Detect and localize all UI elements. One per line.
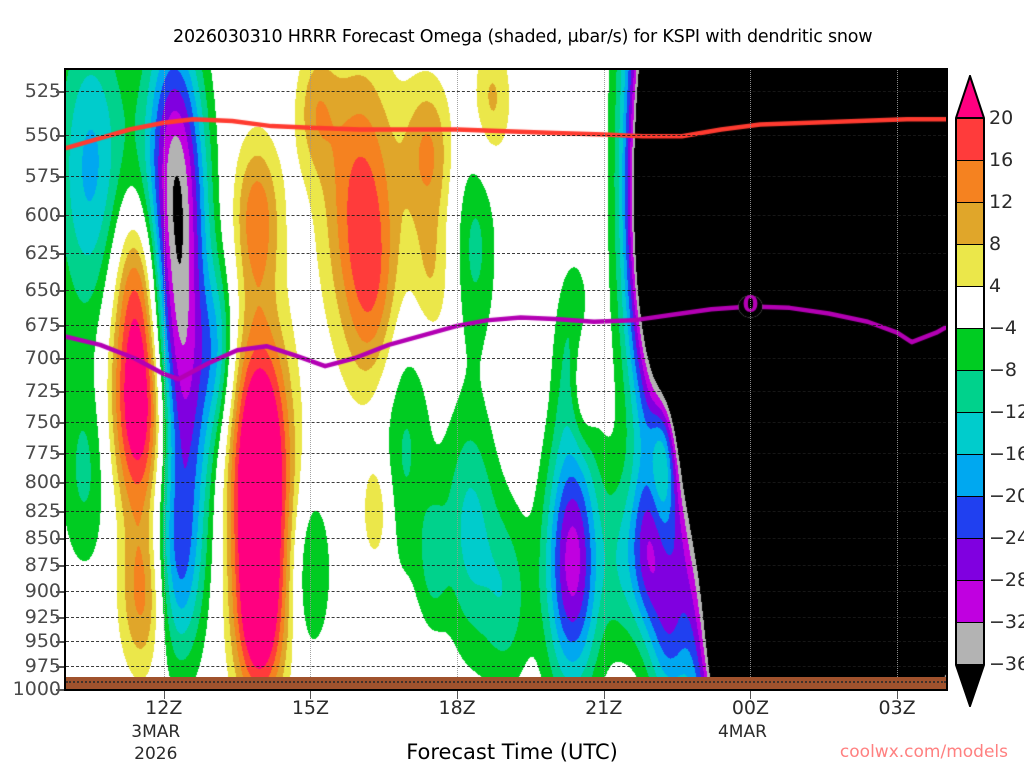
y-tick-label-725: 725: [0, 380, 61, 402]
y-tick-label-700: 700: [0, 347, 61, 369]
y-tick-label-550: 550: [0, 124, 61, 146]
y-tick-600: [56, 215, 64, 217]
colorbar-tick-label-−8: −8: [989, 359, 1017, 381]
y-tick-700: [56, 358, 64, 360]
hgridline-925: [66, 617, 946, 618]
y-tick-875: [56, 565, 64, 567]
hgridline-750: [66, 422, 946, 423]
colorbar-tick-label-−24: −24: [989, 527, 1024, 549]
y-tick-label-650: 650: [0, 279, 61, 301]
colorbar: 20161284−4−8−12−16−20−24−28−32−36: [955, 75, 985, 689]
y-tick-label-625: 625: [0, 242, 61, 264]
y-tick-label-950: 950: [0, 630, 61, 652]
y-tick-575: [56, 176, 64, 178]
colorbar-tick-label-4: 4: [989, 275, 1001, 297]
y-tick-975: [56, 666, 64, 668]
colorbar-tick-label-−36: −36: [989, 653, 1024, 675]
y-tick-850: [56, 538, 64, 540]
hgridline-825: [66, 511, 946, 512]
vgridline-12: [164, 70, 165, 689]
colorbar-tick-label-−32: −32: [989, 611, 1024, 633]
terrain-dots: [66, 681, 946, 683]
y-tick-label-525: 525: [0, 80, 61, 102]
colorbar-tick-label-16: 16: [989, 149, 1013, 171]
colorbar-over-arrow: [955, 75, 985, 118]
y-tick-label-825: 825: [0, 500, 61, 522]
y-tick-label-900: 900: [0, 580, 61, 602]
credit-watermark: coolwx.com/models: [840, 742, 1008, 762]
colorbar-tick-label-20: 20: [989, 107, 1013, 129]
hgridline-525: [66, 91, 946, 92]
y-tick-800: [56, 482, 64, 484]
colorbar-band-5: [955, 328, 985, 370]
colorbar-band-6: [955, 370, 985, 412]
chart-page: 2026030310 HRRR Forecast Omega (shaded, …: [0, 0, 1024, 768]
hgridline-675: [66, 325, 946, 326]
x-tick-label-03Z: 03Z: [879, 697, 916, 719]
colorbar-tick-label-−4: −4: [989, 317, 1017, 339]
hgridline-625: [66, 253, 946, 254]
colorbar-band-2: [955, 202, 985, 244]
omega-shading: [66, 70, 946, 689]
y-tick-750: [56, 422, 64, 424]
colorbar-band-7: [955, 412, 985, 454]
colorbar-tick-label-−20: −20: [989, 485, 1024, 507]
hgridline-975: [66, 666, 946, 667]
hgridline-850: [66, 538, 946, 539]
y-tick-label-925: 925: [0, 606, 61, 628]
hgridline-950: [66, 641, 946, 642]
y-tick-label-1000: 1000: [0, 678, 61, 700]
y-tick-550: [56, 135, 64, 137]
chart-title-line1: 2026030310 HRRR Forecast Omega (shaded, …: [173, 27, 872, 47]
y-tick-label-575: 575: [0, 165, 61, 187]
x-tick-sublabel-00Z-0: 4MAR: [718, 722, 767, 742]
y-tick-label-600: 600: [0, 204, 61, 226]
x-tick-label-00Z: 00Z: [732, 697, 769, 719]
terrain-bar: [66, 677, 946, 689]
vgridline-24: [750, 70, 751, 689]
colorbar-tick-label-−16: −16: [989, 443, 1024, 465]
hgridline-900: [66, 591, 946, 592]
y-tick-775: [56, 453, 64, 455]
y-tick-950: [56, 641, 64, 643]
colorbar-tick-label-12: 12: [989, 191, 1013, 213]
y-tick-900: [56, 591, 64, 593]
y-tick-925: [56, 617, 64, 619]
y-tick-label-775: 775: [0, 442, 61, 464]
colorbar-band-11: [955, 580, 985, 622]
hgridline-875: [66, 565, 946, 566]
colorbar-tick-label-−28: −28: [989, 569, 1024, 591]
y-tick-650: [56, 290, 64, 292]
colorbar-band-4: [955, 286, 985, 328]
y-tick-label-850: 850: [0, 527, 61, 549]
x-tick-sublabel-12Z-0: 3MAR: [131, 722, 180, 742]
y-tick-725: [56, 391, 64, 393]
vgridline-18: [457, 70, 458, 689]
hgridline-1000: [66, 689, 946, 690]
colorbar-tick-label-−12: −12: [989, 401, 1024, 423]
colorbar-band-12: [955, 622, 985, 664]
vgridline-21: [604, 70, 605, 689]
y-tick-625: [56, 253, 64, 255]
y-tick-label-675: 675: [0, 314, 61, 336]
hgridline-775: [66, 453, 946, 454]
y-tick-label-975: 975: [0, 655, 61, 677]
hgridline-550: [66, 135, 946, 136]
vgridline-27: [897, 70, 898, 689]
colorbar-tick-label-8: 8: [989, 233, 1001, 255]
colorbar-band-0: [955, 118, 985, 160]
y-tick-label-750: 750: [0, 411, 61, 433]
hgridline-700: [66, 358, 946, 359]
colorbar-band-1: [955, 160, 985, 202]
colorbar-band-3: [955, 244, 985, 286]
x-tick-label-12Z: 12Z: [145, 697, 182, 719]
hgridline-725: [66, 391, 946, 392]
y-tick-label-875: 875: [0, 554, 61, 576]
vgridline-15: [310, 70, 311, 689]
plot-area: [64, 68, 948, 691]
omega-contour-canvas: [66, 70, 946, 689]
hgridline-575: [66, 176, 946, 177]
y-tick-1000: [56, 689, 64, 691]
hgridline-600: [66, 215, 946, 216]
y-tick-675: [56, 325, 64, 327]
colorbar-band-9: [955, 496, 985, 538]
colorbar-band-10: [955, 538, 985, 580]
colorbar-band-8: [955, 454, 985, 496]
colorbar-under-arrow: [955, 664, 985, 707]
hgridline-800: [66, 482, 946, 483]
y-tick-525: [56, 91, 64, 93]
x-tick-label-21Z: 21Z: [585, 697, 622, 719]
hgridline-650: [66, 290, 946, 291]
y-tick-label-800: 800: [0, 471, 61, 493]
x-tick-label-15Z: 15Z: [292, 697, 329, 719]
y-tick-825: [56, 511, 64, 513]
x-tick-label-18Z: 18Z: [439, 697, 476, 719]
